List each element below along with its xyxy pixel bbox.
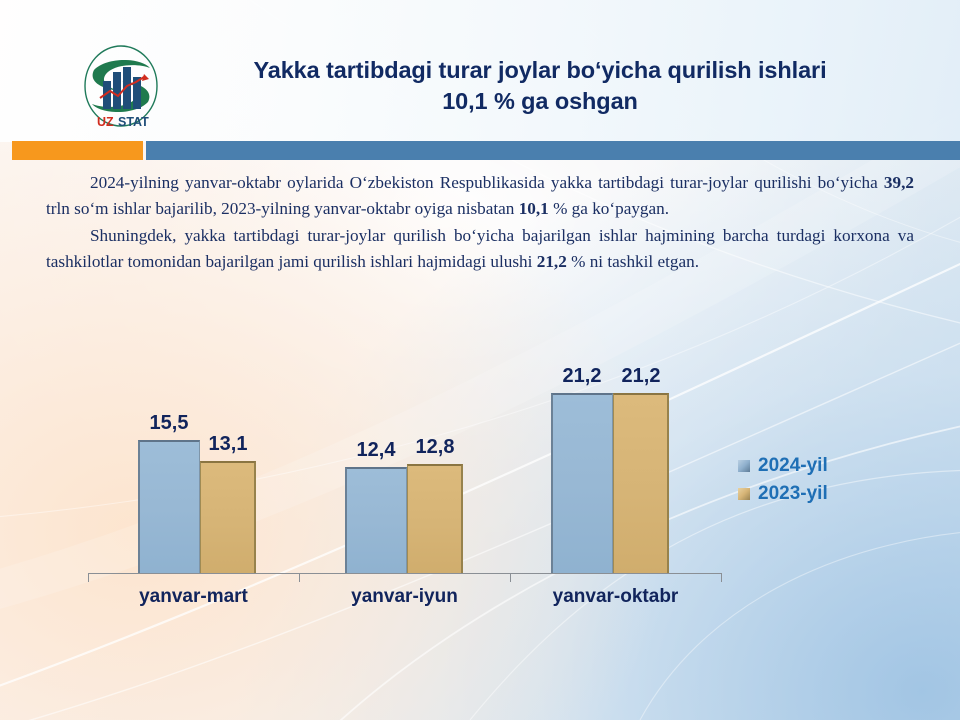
divider-strip-blue bbox=[146, 141, 960, 160]
value-label-2024-yanvar-mart: 15,5 bbox=[138, 412, 200, 435]
category-label-yanvar-iyun: yanvar-iyun bbox=[299, 586, 510, 608]
uzstat-logo: UZ STAT bbox=[80, 44, 162, 136]
legend-swatch-2023-icon bbox=[738, 488, 750, 500]
svg-text:UZ: UZ bbox=[97, 115, 114, 129]
axis-tick-1 bbox=[299, 573, 300, 582]
category-label-yanvar-oktabr: yanvar-oktabr bbox=[510, 586, 721, 608]
paragraph-1: 2024-yilning yanvar-oktabr oylarida O‘zb… bbox=[46, 170, 914, 221]
chart-legend: 2024-yil 2023-yil bbox=[738, 452, 878, 508]
body-text: 2024-yilning yanvar-oktabr oylarida O‘zb… bbox=[46, 170, 914, 276]
legend-item-2023[interactable]: 2023-yil bbox=[738, 480, 878, 508]
bar-2024-yanvar-oktabr bbox=[551, 393, 613, 573]
divider-strip-orange bbox=[12, 141, 143, 160]
p1-post: % ga ko‘paygan. bbox=[549, 199, 669, 218]
paragraph-2: Shuningdek, yakka tartibdagi turar-joyla… bbox=[46, 223, 914, 274]
value-label-2023-yanvar-iyun: 12,8 bbox=[407, 436, 463, 459]
title-line-1: Yakka tartibdagi turar joylar bo‘yicha q… bbox=[180, 55, 900, 86]
p2-post: % ni tashkil etgan. bbox=[567, 252, 699, 271]
bar-2024-yanvar-mart bbox=[138, 440, 200, 573]
value-label-2023-yanvar-mart: 13,1 bbox=[200, 433, 256, 456]
p1-pre: 2024-yilning yanvar-oktabr oylarida O‘zb… bbox=[90, 173, 884, 192]
title-line-2: 10,1 % ga oshgan bbox=[180, 86, 900, 117]
value-label-2024-yanvar-iyun: 12,4 bbox=[345, 439, 407, 462]
legend-label-2023: 2023-yil bbox=[758, 483, 828, 505]
p1-value-growth: 10,1 bbox=[519, 199, 549, 218]
slide-header: UZ STAT Yakka tartibdagi turar joylar bo… bbox=[0, 0, 960, 140]
axis-tick-end bbox=[721, 573, 722, 582]
value-label-2024-yanvar-oktabr: 21,2 bbox=[551, 365, 613, 388]
bar-2023-yanvar-oktabr bbox=[613, 393, 669, 573]
p2-pre: Shuningdek, yakka tartibdagi turar-joyla… bbox=[46, 226, 914, 271]
p1-value-volume: 39,2 bbox=[884, 173, 914, 192]
legend-item-2024[interactable]: 2024-yil bbox=[738, 452, 878, 480]
category-axis-line bbox=[88, 573, 722, 574]
slide-title: Yakka tartibdagi turar joylar bo‘yicha q… bbox=[180, 55, 900, 117]
axis-tick-start bbox=[88, 573, 89, 582]
svg-text:STAT: STAT bbox=[118, 115, 149, 129]
legend-swatch-2024-icon bbox=[738, 460, 750, 472]
value-label-2023-yanvar-oktabr: 21,2 bbox=[613, 365, 669, 388]
slide-canvas: UZ STAT Yakka tartibdagi turar joylar bo… bbox=[0, 0, 960, 720]
bar-2023-yanvar-iyun bbox=[407, 464, 463, 573]
legend-label-2024: 2024-yil bbox=[758, 455, 828, 477]
p1-mid: trln so‘m ishlar bajarilib, 2023-yilning… bbox=[46, 199, 519, 218]
bar-2023-yanvar-mart bbox=[200, 461, 256, 573]
bar-2024-yanvar-iyun bbox=[345, 467, 407, 573]
axis-tick-2 bbox=[510, 573, 511, 582]
p2-value-share: 21,2 bbox=[537, 252, 567, 271]
category-label-yanvar-mart: yanvar-mart bbox=[88, 586, 299, 608]
